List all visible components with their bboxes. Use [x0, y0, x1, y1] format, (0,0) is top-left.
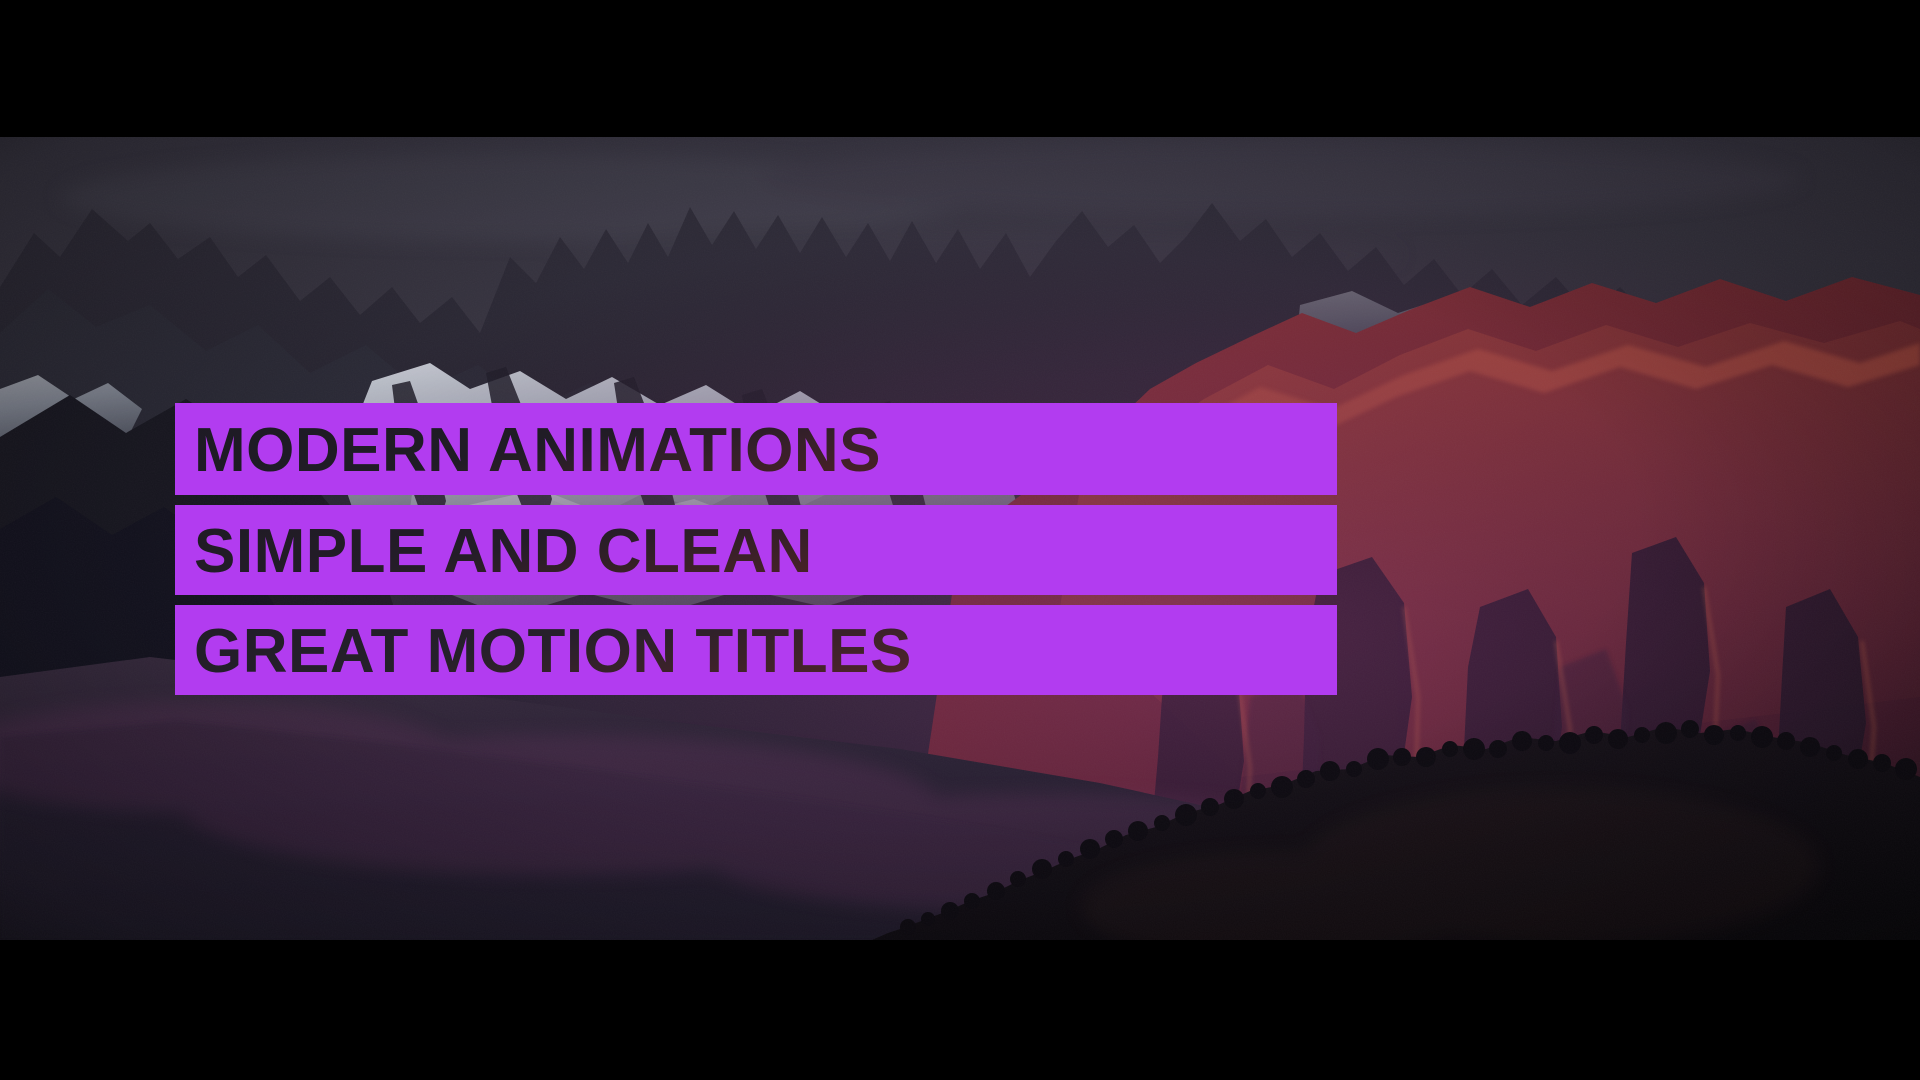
- title-block: MODERN ANIMATIONS MODERN ANIMATIONS: [175, 403, 1337, 695]
- title-bar-1: MODERN ANIMATIONS MODERN ANIMATIONS: [175, 403, 1337, 495]
- title-bar-1-knockout: MODERN ANIMATIONS: [175, 403, 1337, 495]
- title-bar-3: GREAT MOTION TITLES GREAT MOTION TITLES: [175, 605, 1337, 695]
- title-bar-2-knockout: SIMPLE AND CLEAN: [175, 505, 1337, 595]
- letterbox-top: [0, 0, 1920, 137]
- letterbox-bottom: [0, 940, 1920, 1080]
- title-bar-3-knockout: GREAT MOTION TITLES: [175, 605, 1337, 695]
- title-bar-2: SIMPLE AND CLEAN SIMPLE AND CLEAN: [175, 505, 1337, 595]
- title-card-stage: MODERN ANIMATIONS MODERN ANIMATIONS: [0, 0, 1920, 1080]
